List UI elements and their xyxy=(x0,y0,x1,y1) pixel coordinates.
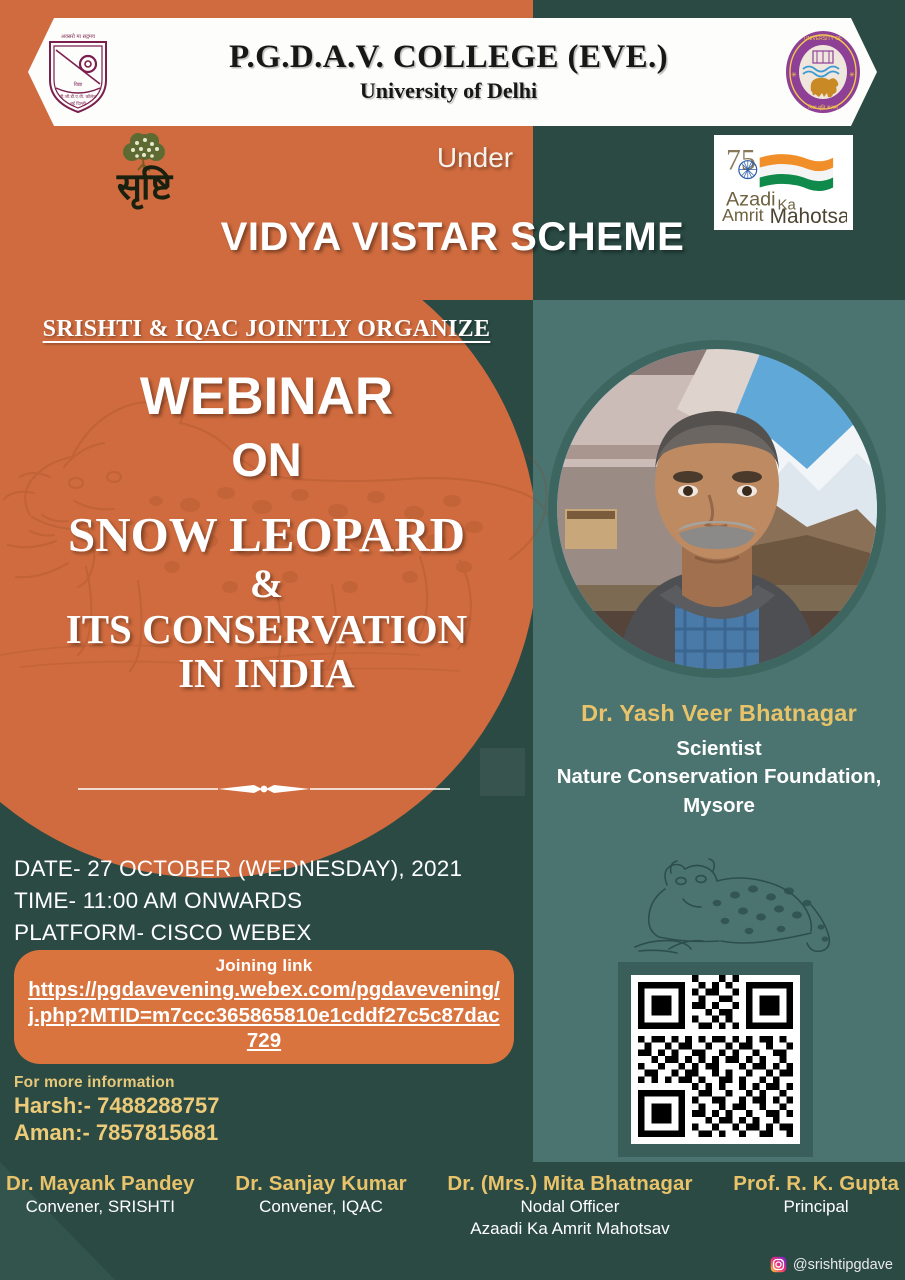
svg-text:विद्या: विद्या xyxy=(74,81,83,88)
contact-heading: For more information xyxy=(14,1074,414,1092)
footer-person: Dr. Mayank Pandey Convener, SRISHTI xyxy=(6,1172,195,1239)
topic-line-3: ITS CONSERVATION xyxy=(0,609,533,651)
svg-text:निष्ठा धृति सत्यम्: निष्ठा धृति सत्यम् xyxy=(808,104,838,111)
footer-person-name: Dr. Mayank Pandey xyxy=(6,1172,195,1196)
srishti-logo: सृष्टि xyxy=(85,133,203,225)
joining-link-box[interactable]: Joining link https://pgdavevening.webex.… xyxy=(14,950,514,1064)
on-label: ON xyxy=(0,432,533,487)
ornamental-divider-icon xyxy=(78,782,450,796)
header-title-group: P.G.D.A.V. COLLEGE (EVE.) University of … xyxy=(114,40,783,104)
footer-person-name: Dr. (Mrs.) Mita Bhatnagar xyxy=(447,1172,692,1196)
contact-info: For more information Harsh:- 7488288757 … xyxy=(14,1074,414,1147)
speaker-affiliation: Scientist Nature Conservation Foundation… xyxy=(533,735,905,820)
instagram-handle-text: @srishtipgdave xyxy=(793,1257,893,1273)
footer-person-role: Convener, IQAC xyxy=(235,1196,406,1219)
speaker-photo xyxy=(548,340,886,678)
event-time: TIME- 11:00 AM ONWARDS xyxy=(14,885,524,917)
footer-person-role: Principal xyxy=(733,1196,899,1219)
topic-line-4: IN INDIA xyxy=(0,651,533,695)
webinar-label: WEBINAR xyxy=(0,368,533,425)
topic-line-2: & xyxy=(0,559,533,609)
speaker-affiliation-line-2: Mysore xyxy=(533,792,905,820)
webex-joining-qr-code[interactable] xyxy=(631,975,800,1144)
event-poster: अवसरो मा सद्गमय विद्या पी.जी.डी.ए.वी. कॉ… xyxy=(0,0,905,1280)
organizer-line: SRISHTI & IQAC JOINTLY ORGANIZE xyxy=(0,316,533,343)
svg-text:Mahotsav: Mahotsav xyxy=(770,205,847,226)
event-platform: PLATFORM- CISCO WEBEX xyxy=(14,917,524,949)
page-title: P.G.D.A.V. COLLEGE (EVE.) xyxy=(114,40,783,75)
footer-people-row: Dr. Mayank Pandey Convener, SRISHTI Dr. … xyxy=(0,1172,905,1239)
svg-text:✳: ✳ xyxy=(849,71,855,79)
footer-person: Prof. R. K. Gupta Principal xyxy=(733,1172,899,1239)
contact-person-1: Harsh:- 7488288757 xyxy=(14,1092,414,1119)
speaker-affiliation-line-1: Nature Conservation Foundation, xyxy=(533,763,905,791)
footer-person-name: Prof. R. K. Gupta xyxy=(733,1172,899,1196)
contact-person-2: Aman:- 7857815681 xyxy=(14,1119,414,1146)
footer-person-role: Nodal Officer xyxy=(447,1196,692,1219)
srishti-logo-text: सृष्टि xyxy=(85,169,203,206)
university-subtitle: University of Delhi xyxy=(114,78,783,104)
event-date: DATE- 27 OCTOBER (WEDNESDAY), 2021 xyxy=(14,853,524,885)
webinar-topic: SNOW LEOPARD & ITS CONSERVATION IN INDIA xyxy=(0,510,533,695)
sitting-snow-leopard-illustration-icon xyxy=(625,855,840,965)
footer: Dr. Mayank Pandey Convener, SRISHTI Dr. … xyxy=(0,1162,905,1280)
svg-text:✳: ✳ xyxy=(791,71,797,79)
header-banner: अवसरो मा सद्गमय विद्या पी.जी.डी.ए.वी. कॉ… xyxy=(28,18,877,126)
topic-line-1: SNOW LEOPARD xyxy=(0,510,533,559)
footer-person: Dr. Sanjay Kumar Convener, IQAC xyxy=(235,1172,406,1239)
joining-link-label: Joining link xyxy=(26,956,502,976)
speaker-designation: Scientist xyxy=(533,735,905,763)
footer-person-role-extra: Azaadi Ka Amrit Mahotsav xyxy=(447,1219,692,1239)
qr-code-container[interactable] xyxy=(618,962,813,1157)
svg-text:Amrit: Amrit xyxy=(722,205,764,225)
square-accent-decor xyxy=(480,748,525,796)
svg-text:75: 75 xyxy=(726,144,756,177)
joining-link-url[interactable]: https://pgdavevening.webex.com/pgdaveven… xyxy=(26,977,502,1054)
svg-text:पी.जी.डी.ए.वी. कॉलेज: पी.जी.डी.ए.वी. कॉलेज xyxy=(60,94,97,100)
speaker-name: Dr. Yash Veer Bhatnagar xyxy=(533,700,905,727)
event-details: DATE- 27 OCTOBER (WEDNESDAY), 2021 TIME-… xyxy=(14,853,524,949)
footer-person-role: Convener, SRISHTI xyxy=(6,1196,195,1219)
footer-person: Dr. (Mrs.) Mita Bhatnagar Nodal Officer … xyxy=(447,1172,692,1239)
social-handle[interactable]: @srishtipgdave xyxy=(770,1256,893,1273)
pgdav-college-crest-icon: अवसरो मा सद्गमय विद्या पी.जी.डी.ए.वी. कॉ… xyxy=(42,28,114,116)
university-of-delhi-seal-icon: UNIVERSITY OF निष्ठा धृति सत्यम् ✳ ✳ xyxy=(783,29,863,115)
under-label: Under xyxy=(405,142,545,174)
azadi-ka-amrit-mahotsav-logo: 75 Azadi Ka Amrit Mahotsav xyxy=(714,135,853,230)
instagram-icon[interactable] xyxy=(770,1256,787,1273)
svg-text:नई दिल्ली: नई दिल्ली xyxy=(70,101,86,107)
svg-text:UNIVERSITY OF: UNIVERSITY OF xyxy=(804,36,842,42)
footer-person-name: Dr. Sanjay Kumar xyxy=(235,1172,406,1196)
svg-text:अवसरो मा सद्गमय: अवसरो मा सद्गमय xyxy=(61,33,96,40)
